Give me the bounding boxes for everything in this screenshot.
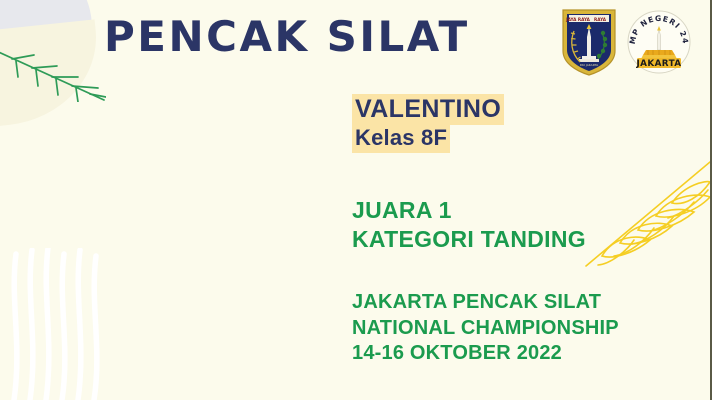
award-rank: JUARA 1 [352, 196, 586, 225]
svg-text:RAYA: RAYA [594, 17, 607, 22]
jakarta-provincial-emblem: JAYA RAYA RAYA DKI JAKARTA [560, 7, 618, 77]
jakarta-banner-left: JAYA RAYA [565, 17, 590, 22]
event-block: JAKARTA PENCAK SILAT NATIONAL CHAMPIONSH… [352, 290, 619, 367]
smp-negeri-240-jakarta-logo: SMP NEGERI 240 JAKARTA [626, 9, 692, 75]
event-dates: 14-16 OKTOBER 2022 [352, 341, 619, 367]
school-city-label: JAKARTA [635, 59, 681, 69]
award-category: KATEGORI TANDING [352, 225, 586, 254]
page-title: PENCAK SILAT [104, 12, 470, 61]
svg-text:DKI JAKARTA: DKI JAKARTA [580, 63, 599, 67]
grey-blob-shape [0, 0, 95, 110]
student-block: VALENTINO Kelas 8F [352, 94, 504, 153]
cream-wedge-shape [0, 19, 105, 132]
green-fern-icon [0, 46, 106, 102]
award-block: JUARA 1 KATEGORI TANDING [352, 196, 586, 253]
white-wavy-stripes [6, 248, 116, 400]
logo-group: JAYA RAYA RAYA DKI JAKARTA [560, 7, 692, 77]
event-name-line2: NATIONAL CHAMPIONSHIP [352, 316, 619, 342]
certificate-slide: JAYA RAYA RAYA DKI JAKARTA [0, 0, 712, 400]
yellow-palm-frond-icon [584, 152, 710, 272]
event-name-line1: JAKARTA PENCAK SILAT [352, 290, 619, 316]
student-name: VALENTINO [352, 94, 504, 125]
student-class: Kelas 8F [352, 125, 450, 153]
